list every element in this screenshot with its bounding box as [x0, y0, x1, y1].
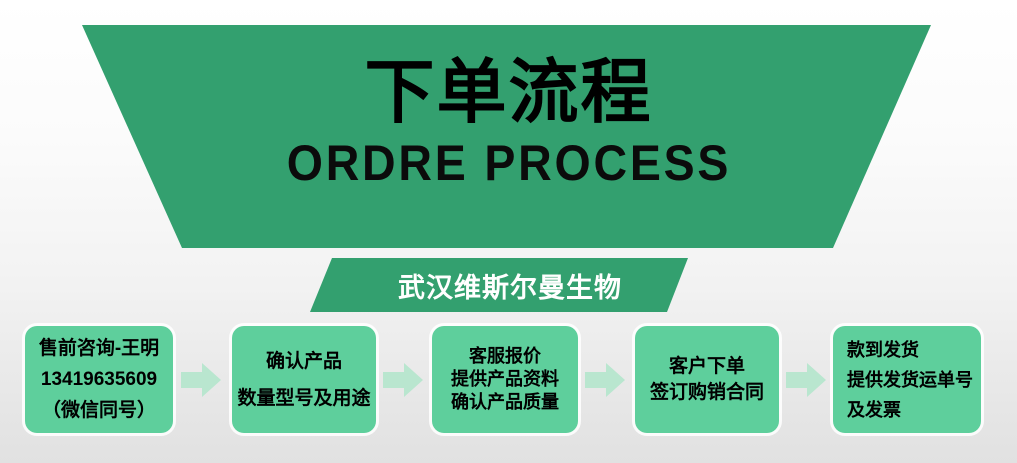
process-step-4-line-2: 签订购销合同 — [650, 380, 764, 406]
arrow-right-icon — [181, 362, 221, 398]
process-step-5-line-3: 及发票 — [847, 395, 901, 425]
process-step-5-line-2: 提供发货运单号 — [847, 365, 973, 395]
process-step-4[interactable]: 客户下单 签订购销合同 — [635, 326, 779, 433]
process-steps-row: 售前咨询-王明 13419635609 （微信同号） 确认产品 数量型号及用途 … — [0, 326, 1017, 438]
process-step-4-line-1: 客户下单 — [669, 354, 745, 380]
arrow-right-icon — [383, 362, 423, 398]
process-step-3-line-3: 确认产品质量 — [451, 391, 559, 414]
process-step-2-line-2: 数量型号及用途 — [238, 380, 371, 417]
process-step-2-line-1: 确认产品 — [266, 343, 342, 380]
process-step-5-line-1: 款到发货 — [847, 335, 919, 365]
process-step-5[interactable]: 款到发货 提供发货运单号 及发票 — [833, 326, 981, 433]
banner-trapezoid-fill — [82, 25, 931, 248]
process-step-1-line-3: （微信同号） — [42, 395, 156, 426]
process-step-1-line-2: 13419635609 — [41, 364, 157, 395]
process-step-3-line-1: 客服报价 — [469, 345, 541, 368]
arrow-right-icon — [585, 362, 625, 398]
process-step-2[interactable]: 确认产品 数量型号及用途 — [232, 326, 376, 433]
process-step-1-line-1: 售前咨询-王明 — [39, 333, 159, 364]
process-step-3-line-2: 提供产品资料 — [451, 368, 559, 391]
company-badge-trapezoid — [310, 258, 710, 312]
process-step-1[interactable]: 售前咨询-王明 13419635609 （微信同号） — [25, 326, 173, 433]
order-process-infographic: 下单流程 ORDRE PROCESS 武汉维斯尔曼生物 售前咨询-王明 1341… — [0, 0, 1017, 463]
arrow-right-icon — [786, 362, 826, 398]
process-step-3[interactable]: 客服报价 提供产品资料 确认产品质量 — [432, 326, 578, 433]
company-badge-fill — [310, 258, 688, 312]
